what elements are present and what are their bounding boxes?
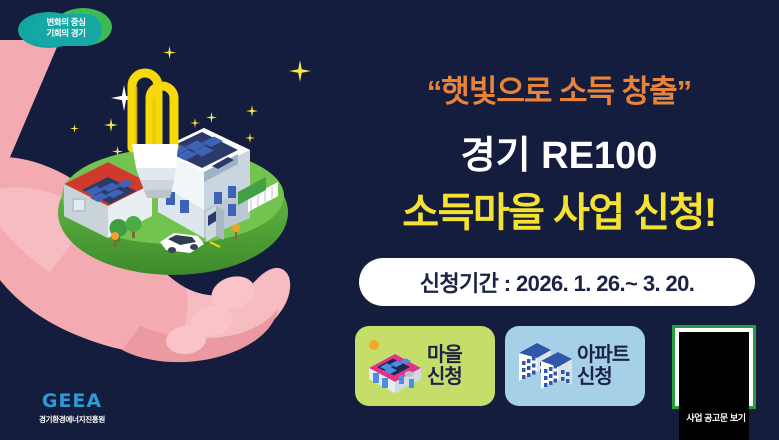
badge-line-2: 기회의 경기 <box>46 28 85 39</box>
ev-charging-station-icon <box>206 206 224 247</box>
gyeonggi-slogan-badge: 변화의 중심 기회의 경기 <box>18 6 114 50</box>
illustration-panel: 변화의 중심 기회의 경기 GEEA 경기환경에너지진흥원 <box>0 0 340 440</box>
geea-logo-name: 경기환경에너지진흥원 <box>20 414 124 425</box>
apartment-label-line-2: 신청 <box>577 366 629 388</box>
content-panel: “햇빛으로 소득 창출” 경기 RE100 소득마을 사업 신청! 신청기간 :… <box>333 0 779 440</box>
application-period-badge: 신청기간 : 2026. 1. 26.~ 3. 20. <box>359 258 755 306</box>
apartment-application-button[interactable]: 아파트 신청 <box>505 326 645 406</box>
qr-code-matrix <box>679 332 749 402</box>
apartment-label-line-1: 아파트 <box>577 344 629 366</box>
village-application-label: 마을 신청 <box>427 344 462 388</box>
geea-logo-mark: GEEA <box>20 392 124 411</box>
action-button-row: 마을 신청 <box>355 326 775 412</box>
application-period-text: 신청기간 : 2026. 1. 26.~ 3. 20. <box>420 266 695 298</box>
apartment-buildings-icon <box>515 335 575 397</box>
geea-logo: GEEA 경기환경에너지진흥원 <box>20 392 124 428</box>
headline-sub: 소득마을 사업 신청! <box>341 180 777 238</box>
badge-line-1: 변화의 중심 <box>46 17 85 28</box>
village-label-line-1: 마을 <box>427 344 462 366</box>
qr-code-icon[interactable] <box>672 325 756 409</box>
apartment-application-label: 아파트 신청 <box>577 344 629 388</box>
white-car-icon <box>160 233 204 253</box>
village-label-line-2: 신청 <box>427 366 462 388</box>
badge-text: 변화의 중심 기회의 경기 <box>18 6 114 50</box>
qr-caption: 사업 공고문 보기 <box>660 411 772 424</box>
qr-code-block[interactable]: 사업 공고문 보기 <box>660 325 772 425</box>
headline-quote: “햇빛으로 소득 창출” <box>349 66 769 111</box>
cfl-light-bulb-icon <box>112 52 202 202</box>
house-solar-icon <box>365 335 425 397</box>
village-application-button[interactable]: 마을 신청 <box>355 326 495 406</box>
promo-banner: 변화의 중심 기회의 경기 GEEA 경기환경에너지진흥원 “햇빛으로 소득 창… <box>0 0 779 440</box>
page-title: 경기 RE100 <box>349 124 769 179</box>
